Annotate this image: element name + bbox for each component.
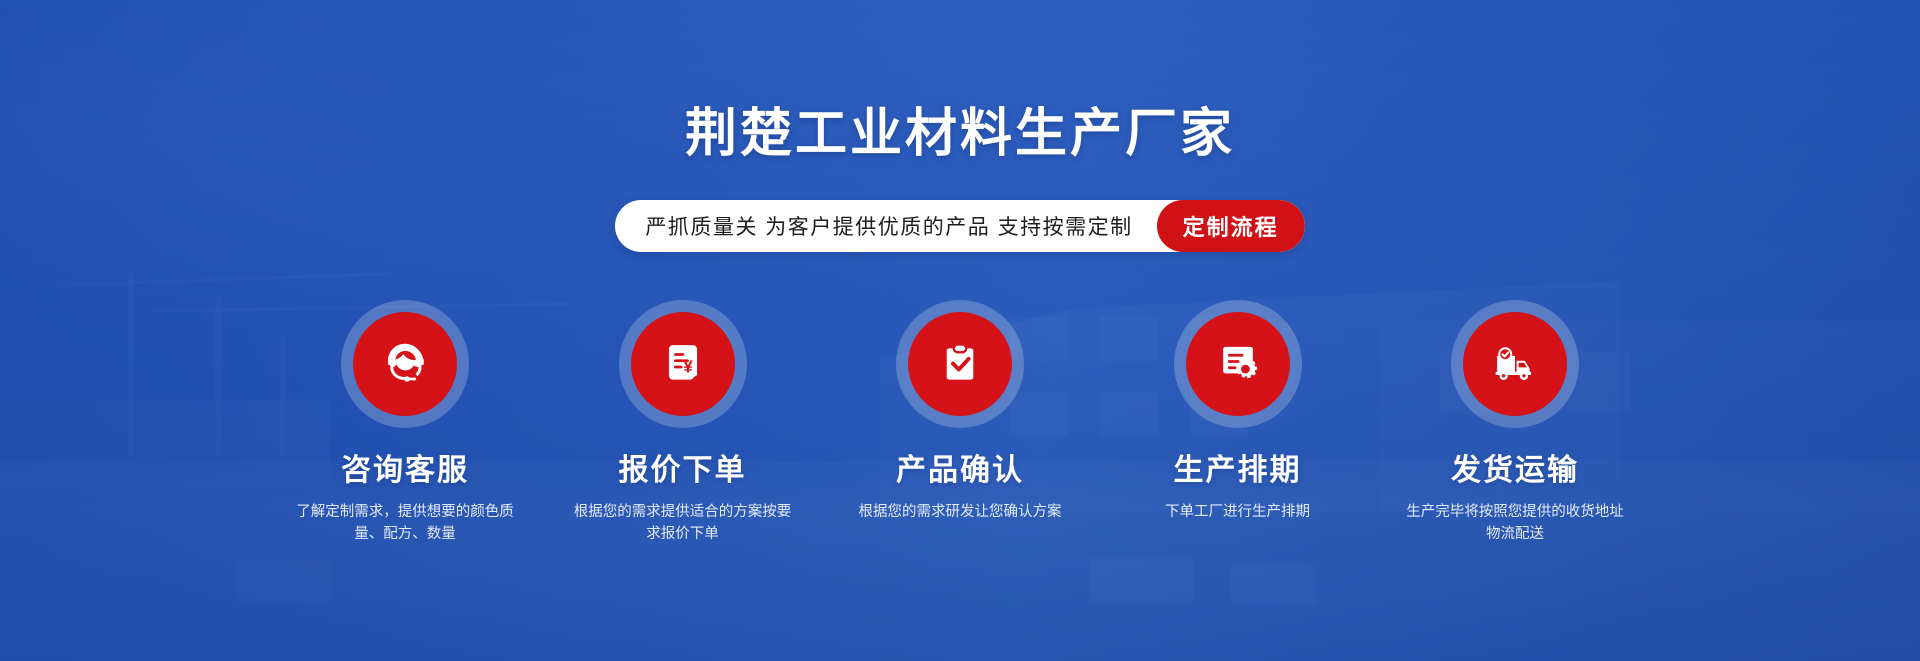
banner-content: 荆楚工业材料生产厂家 严抓质量关 为客户提供优质的产品 支持按需定制 定制流程 [0, 0, 1920, 661]
step-icon-ring [341, 300, 469, 428]
step-icon-disc [353, 312, 457, 416]
step-description: 根据您的需求提供适合的方案按要求报价下单 [568, 501, 798, 546]
subtitle-text: 严抓质量关 为客户提供优质的产品 支持按需定制 [645, 211, 1156, 241]
step-icon-ring: ¥ [619, 300, 747, 428]
document-gear-icon [1213, 339, 1263, 389]
step-icon-disc [1186, 312, 1290, 416]
delivery-truck-check-icon [1489, 338, 1541, 390]
svg-text:¥: ¥ [683, 357, 693, 377]
subtitle-pill: 严抓质量关 为客户提供优质的产品 支持按需定制 定制流程 [615, 200, 1304, 252]
step-item[interactable]: 咨询客服 了解定制需求，提供想要的颜色质量、配方、数量 [280, 300, 530, 546]
hero-banner: 荆楚工业材料生产厂家 严抓质量关 为客户提供优质的产品 支持按需定制 定制流程 [0, 0, 1920, 661]
step-item[interactable]: ¥ 报价下单 根据您的需求提供适合的方案按要求报价下单 [558, 300, 808, 546]
page-title: 荆楚工业材料生产厂家 [0, 108, 1920, 160]
step-description: 下单工厂进行生产排期 [1165, 501, 1310, 523]
headset-support-icon [379, 338, 431, 390]
clipboard-check-icon [935, 339, 985, 389]
step-item[interactable]: 发货运输 生产完毕将按照您提供的收货地址物流配送 [1390, 300, 1640, 546]
quote-invoice-yen-icon: ¥ [658, 339, 708, 389]
process-steps: 咨询客服 了解定制需求，提供想要的颜色质量、配方、数量 [280, 300, 1640, 546]
step-description: 了解定制需求，提供想要的颜色质量、配方、数量 [290, 501, 520, 546]
step-icon-ring [1451, 300, 1579, 428]
step-description: 生产完毕将按照您提供的收货地址物流配送 [1400, 501, 1630, 546]
step-icon-disc [908, 312, 1012, 416]
step-title: 报价下单 [619, 454, 747, 487]
step-item[interactable]: 产品确认 根据您的需求研发让您确认方案 [835, 300, 1085, 546]
step-item[interactable]: 生产排期 下单工厂进行生产排期 [1113, 300, 1363, 546]
step-title: 发货运输 [1451, 454, 1579, 487]
step-title: 生产排期 [1174, 454, 1302, 487]
step-icon-disc: ¥ [631, 312, 735, 416]
step-icon-ring [896, 300, 1024, 428]
step-title: 产品确认 [896, 454, 1024, 487]
step-title: 咨询客服 [341, 454, 469, 487]
step-description: 根据您的需求研发让您确认方案 [859, 501, 1062, 523]
subtitle-bar: 严抓质量关 为客户提供优质的产品 支持按需定制 定制流程 [0, 200, 1920, 252]
step-icon-disc [1463, 312, 1567, 416]
step-icon-ring [1174, 300, 1302, 428]
custom-process-button[interactable]: 定制流程 [1157, 200, 1305, 252]
